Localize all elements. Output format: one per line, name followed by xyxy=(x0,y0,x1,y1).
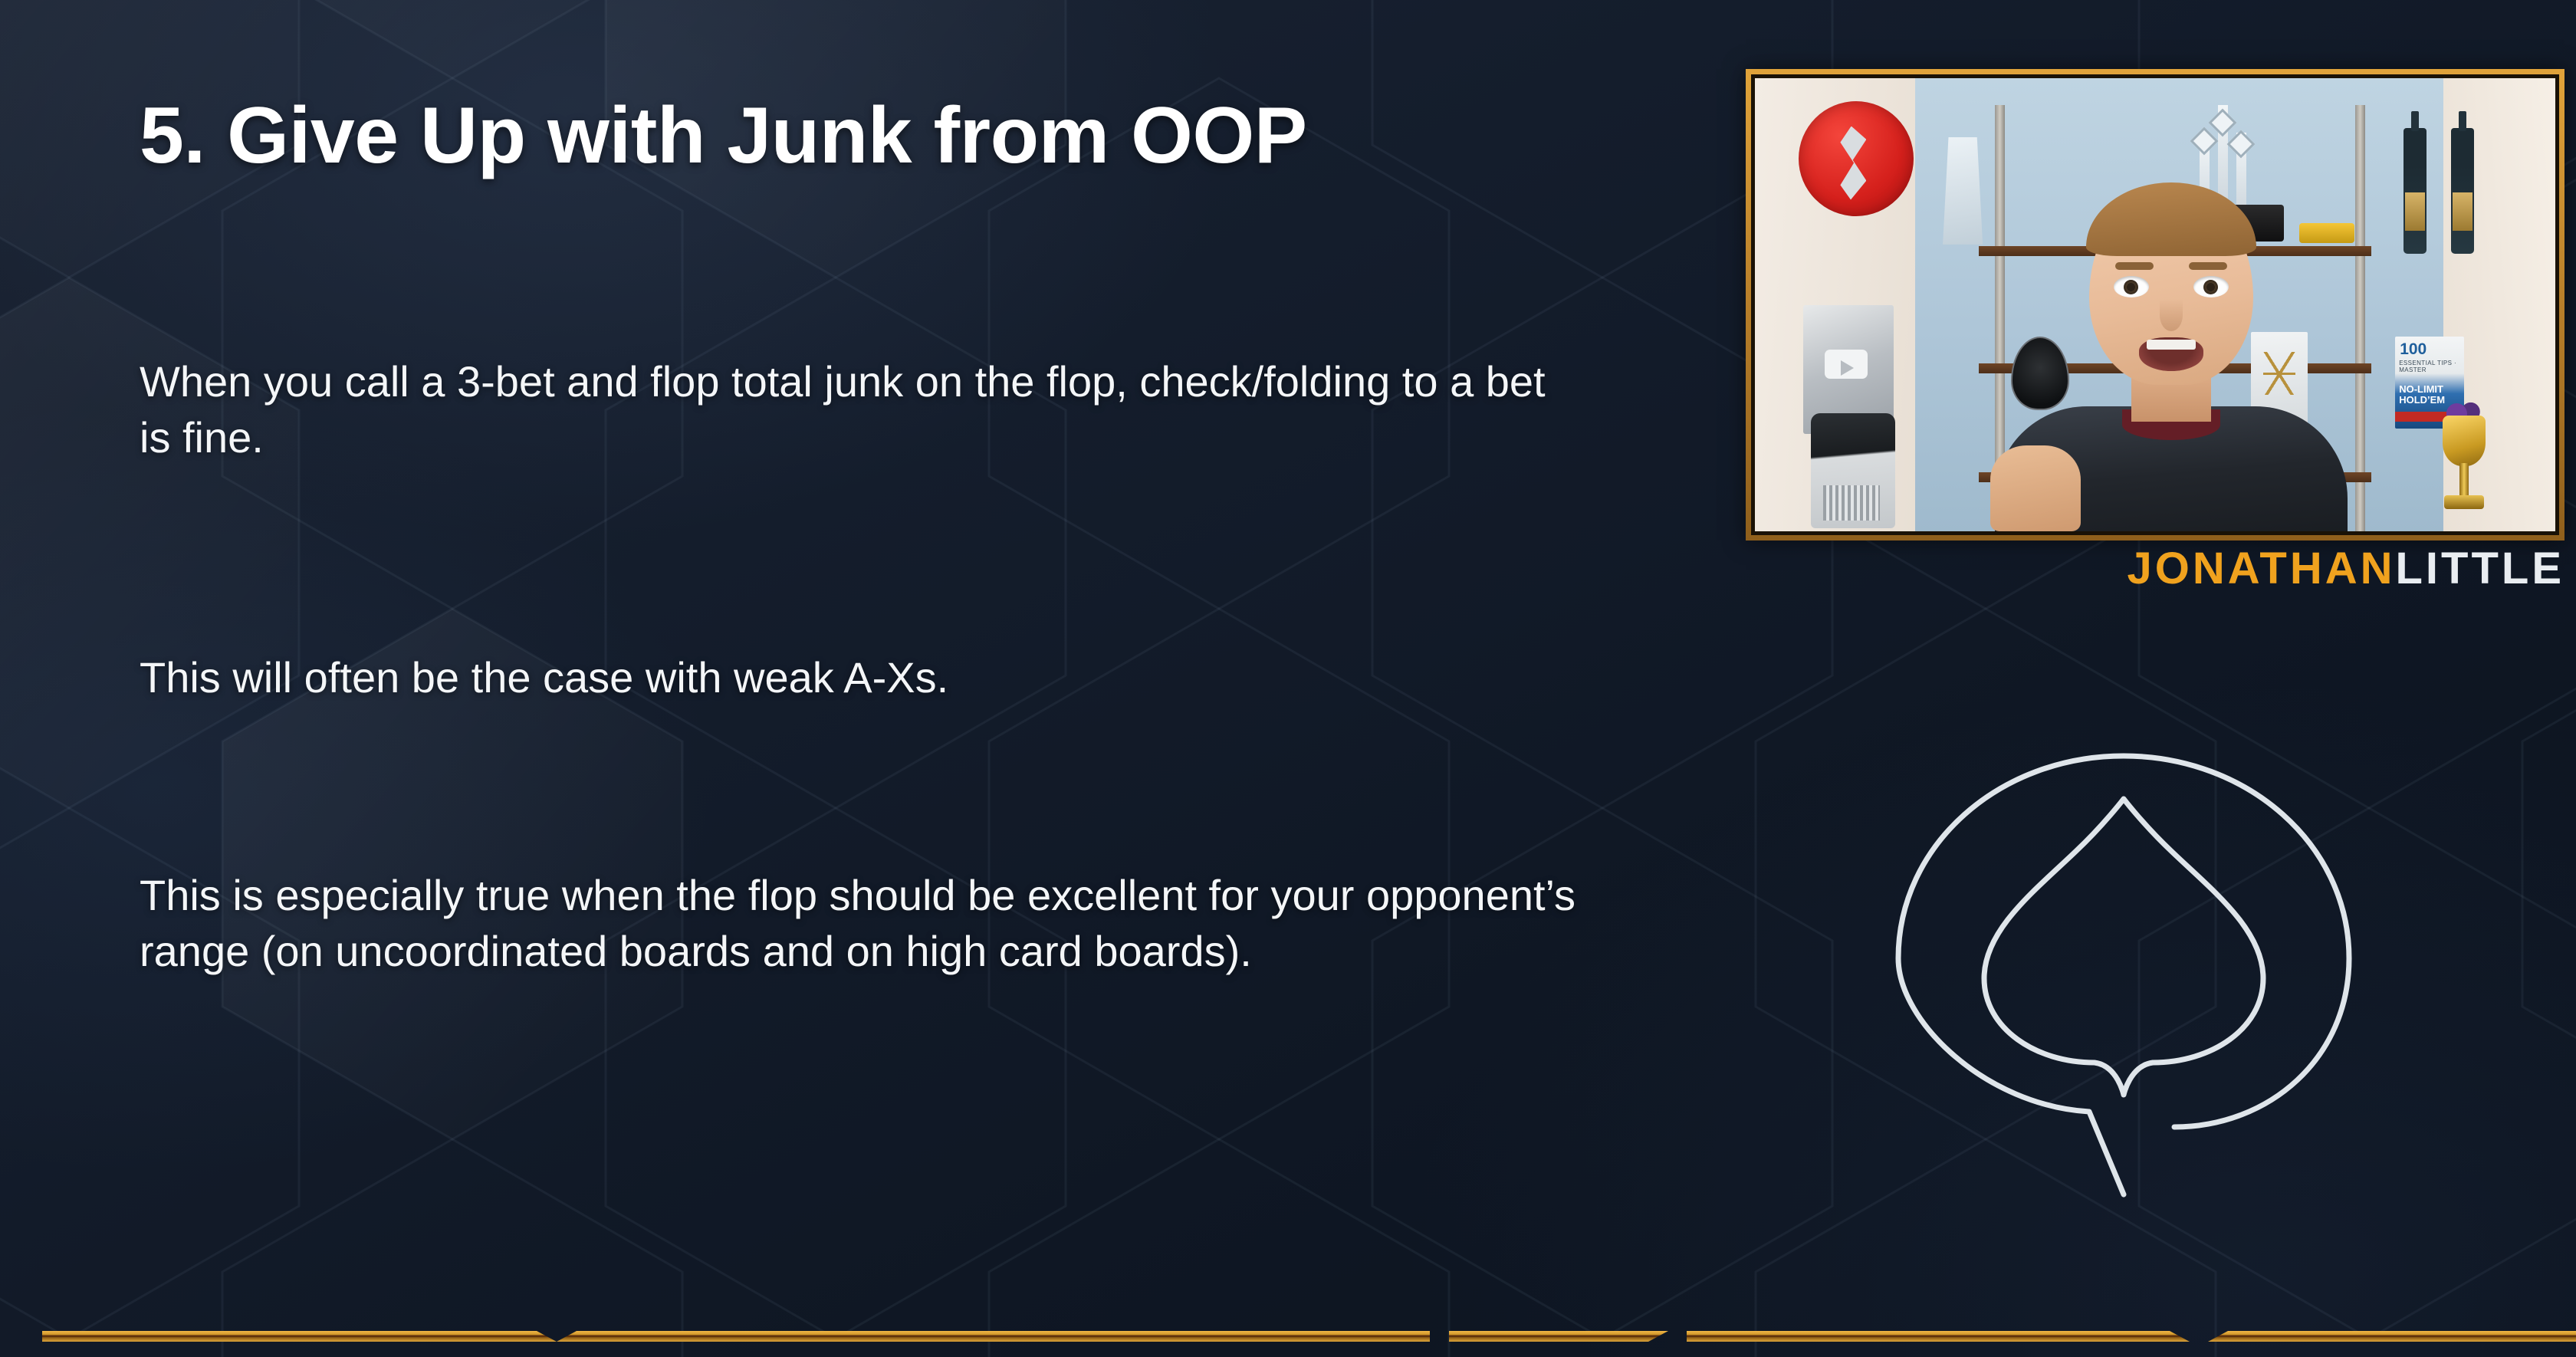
presenter-head xyxy=(2089,187,2253,385)
spade-logo-icon xyxy=(1871,728,2377,1227)
presenter-eye xyxy=(2114,276,2149,297)
trophy-stem xyxy=(2459,463,2469,497)
presenter-hair xyxy=(2086,182,2256,256)
slide-text-column: 5. Give Up with Junk from OOP When you c… xyxy=(140,0,1681,1357)
bottle-label xyxy=(2405,192,2425,231)
book-title-number: 100 xyxy=(2400,340,2426,359)
shelf-post-right xyxy=(2355,105,2365,531)
book-subtitle: ESSENTIAL TIPS · MASTER xyxy=(2399,360,2464,373)
page-title: 5. Give Up with Junk from OOP xyxy=(140,90,1307,182)
presenter-name-lockup: JONATHANLITTLE xyxy=(1746,543,2564,594)
presenter-eye xyxy=(2193,276,2229,297)
trophy-bowl xyxy=(2443,416,2486,466)
presenter-first-name: JONATHAN xyxy=(2127,544,2396,593)
presenter-figure xyxy=(1995,187,2347,531)
body-paragraph-2: This will often be the case with weak A-… xyxy=(140,650,1581,706)
bottle-label xyxy=(2453,192,2472,231)
slide-canvas: 5. Give Up with Junk from OOP When you c… xyxy=(0,0,2576,1357)
body-paragraph-1: When you call a 3-bet and flop total jun… xyxy=(140,354,1581,466)
presenter-eyebrow xyxy=(2189,262,2227,270)
presenter-mouth xyxy=(2139,337,2203,371)
webcam-video-feed[interactable]: 100 ESSENTIAL TIPS · MASTER NO-LIMIT HOL… xyxy=(1755,78,2555,531)
presenter-eyebrow xyxy=(2115,262,2154,270)
trophy-diamond xyxy=(2209,109,2237,137)
trophy-diamond xyxy=(2227,130,2256,159)
gold-cup-trophy xyxy=(2435,405,2493,518)
presenter-last-name: LITTLE xyxy=(2395,544,2564,593)
presenter-nose xyxy=(2160,299,2183,331)
wine-bottle xyxy=(2403,128,2426,254)
trophy-diamond xyxy=(2190,127,2219,156)
red-circular-logo-plaque xyxy=(1799,101,1914,216)
webcam-panel[interactable]: 100 ESSENTIAL TIPS · MASTER NO-LIMIT HOL… xyxy=(1746,69,2564,540)
presenter-arm xyxy=(1990,445,2081,531)
body-paragraph-3: This is especially true when the flop sh… xyxy=(140,868,1619,980)
trophy-base xyxy=(2444,495,2484,509)
floor-heater xyxy=(1811,413,1895,528)
wine-bottle xyxy=(2451,128,2474,254)
